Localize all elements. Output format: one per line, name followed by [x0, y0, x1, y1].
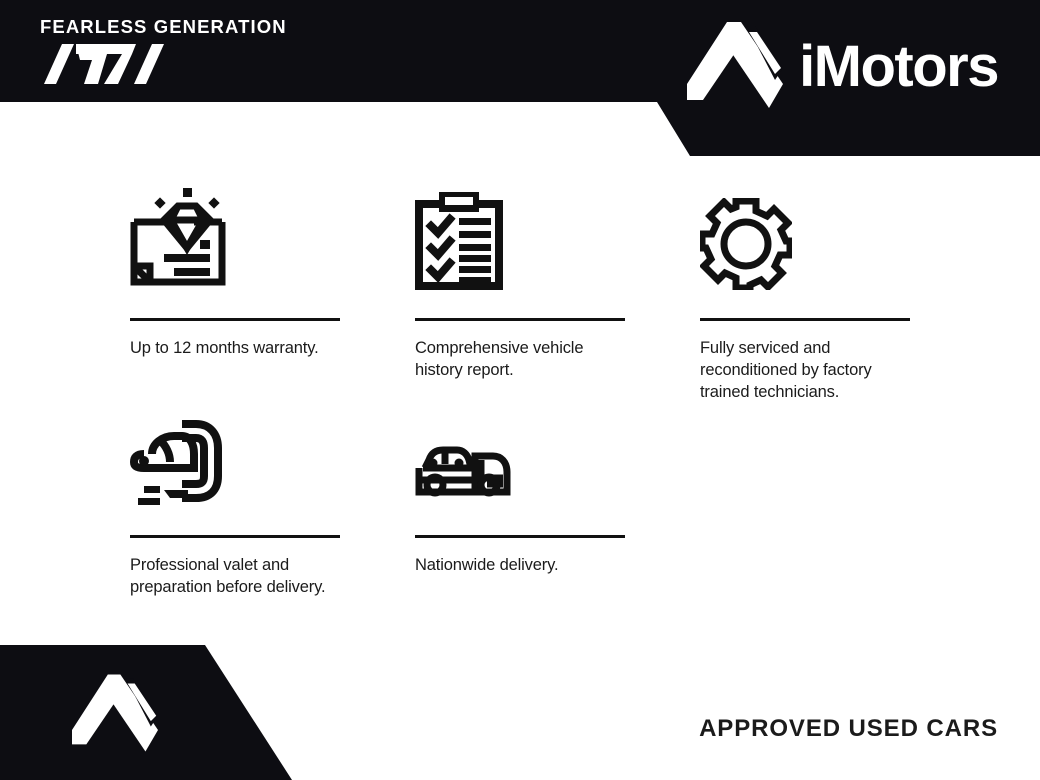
feature-divider: [415, 318, 625, 321]
imotors-chevron-logo: [687, 22, 783, 108]
imotors-chevron-logo: [72, 665, 158, 761]
header-tagline-block: FEARLESS GENERATION: [40, 18, 287, 84]
feature-divider: [415, 535, 625, 538]
feature-divider: [700, 318, 910, 321]
warranty-certificate-diamond-icon: [130, 180, 340, 290]
feature-grid: Up to 12 months warranty.: [130, 180, 920, 618]
1971-slash-logo: [40, 44, 170, 84]
marketing-banner: FEARLESS GENERATION: [0, 0, 1040, 780]
feature-text: Up to 12 months warranty.: [130, 338, 340, 360]
gear-cog-icon: [700, 180, 910, 290]
feature-text: Comprehensive vehicle history report.: [415, 338, 625, 382]
vacuum-cleaner-icon: [130, 398, 340, 510]
feature-row: Up to 12 months warranty.: [130, 180, 920, 398]
feature-card-valet: Professional valet and preparation befor…: [130, 398, 340, 618]
clipboard-checklist-icon: [415, 180, 625, 290]
feature-divider: [130, 318, 340, 321]
feature-divider: [130, 535, 340, 538]
feature-card-delivery: Nationwide delivery.: [415, 398, 625, 618]
feature-text: Fully serviced and reconditioned by fact…: [700, 338, 910, 403]
header-tagline: FEARLESS GENERATION: [40, 18, 287, 37]
feature-card-serviced: Fully serviced and reconditioned by fact…: [700, 180, 910, 398]
footer-tagline: APPROVED USED CARS: [699, 715, 998, 743]
feature-card-history-report: Comprehensive vehicle history report.: [415, 180, 625, 398]
feature-row: Professional valet and preparation befor…: [130, 398, 920, 618]
brand-block: iMotors: [687, 22, 998, 108]
car-transporter-truck-icon: [415, 398, 625, 510]
feature-card-warranty: Up to 12 months warranty.: [130, 180, 340, 398]
feature-text: Professional valet and preparation befor…: [130, 555, 340, 599]
brand-name: iMotors: [799, 38, 998, 96]
feature-text: Nationwide delivery.: [415, 555, 625, 577]
